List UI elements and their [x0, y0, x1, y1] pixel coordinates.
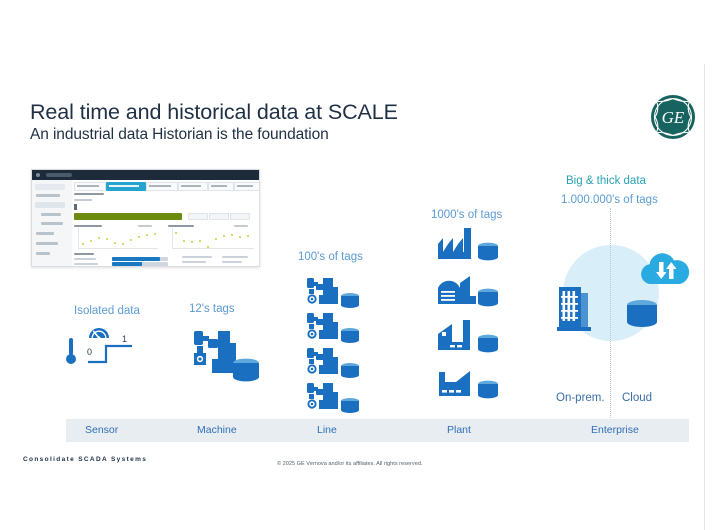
band-label-plant: Plant [447, 424, 471, 436]
factory-icon-4 [439, 371, 498, 398]
cloud-database-icon [621, 297, 663, 333]
on-prem-label: On-prem. [556, 392, 605, 404]
onprem-cloud-divider [610, 208, 611, 426]
machine-caption: 12's tags [189, 303, 235, 315]
slide-right-rule [704, 64, 705, 530]
footer-copyright: © 2025 GE Vernova and/or its affiliates.… [277, 461, 423, 467]
robot-cell [307, 278, 359, 308]
svg-text:GE: GE [662, 108, 685, 127]
robot-arm-with-database-icon [188, 325, 260, 387]
office-building-icon [557, 283, 593, 331]
factory-icon-3 [438, 320, 498, 352]
footer-tagline: Consolidate SCADA Systems [23, 456, 147, 463]
signal-high-label: 1 [122, 334, 127, 344]
digital-signal-icon [86, 338, 136, 366]
sensor-caption: Isolated data [74, 305, 140, 317]
line-robot-stack [305, 276, 367, 412]
slide-canvas: Real time and historical data at SCALE A… [0, 0, 713, 530]
signal-low-label: 0 [87, 347, 92, 357]
factory-icon-1 [438, 228, 498, 260]
plant-caption: 1000's of tags [431, 209, 502, 221]
thumb-content [72, 180, 259, 266]
band-label-enterprise: Enterprise [591, 424, 639, 436]
thumb-tab-strip [74, 182, 257, 189]
enterprise-caption-top: Big & thick data [566, 175, 646, 187]
plant-factory-stack [436, 228, 508, 413]
thermometer-icon [64, 336, 78, 366]
band-label-machine: Machine [197, 424, 237, 436]
page-title: Real time and historical data at SCALE [30, 100, 398, 125]
thumb-sidebar [32, 180, 73, 266]
cloud-sync-icon [636, 248, 692, 288]
cloud-label: Cloud [622, 392, 652, 404]
band-label-line: Line [317, 424, 337, 436]
enterprise-caption: 1.000.000's of tags [561, 194, 658, 206]
database-cylinder [233, 359, 259, 382]
page-subtitle: An industrial data Historian is the foun… [30, 126, 329, 144]
thumb-titlebar [32, 170, 259, 180]
ge-logo-icon: GE [650, 94, 696, 140]
band-label-sensor: Sensor [85, 424, 118, 436]
factory-icon-2 [438, 276, 498, 306]
line-caption: 100's of tags [298, 251, 363, 263]
dashboard-screenshot-thumbnail [31, 169, 260, 267]
